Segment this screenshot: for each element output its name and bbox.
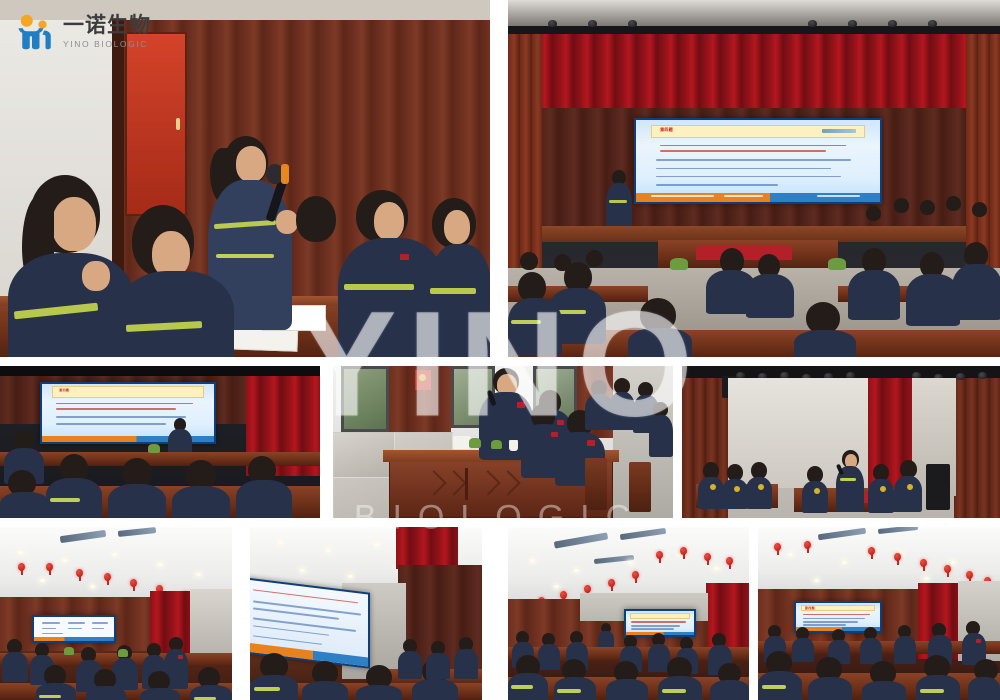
slide-footer [636,193,880,202]
photo-collage: 第四题 [0,0,1000,700]
collage-photo-1[interactable] [0,0,490,357]
collage-photo-4[interactable] [333,366,673,518]
photo-7-scene [250,527,482,700]
collage-photo-9[interactable]: 第四题 [758,527,1000,700]
person-seated-4 [428,198,490,357]
slide-title-text: 第四题 [805,606,815,610]
photo-1-scene [0,0,490,357]
person-seated-2 [118,205,238,357]
yino-biologic-logo-icon [14,14,56,50]
drinking-cup [509,440,518,451]
slide-title-text: 第四题 [660,127,673,133]
photo-5-scene [682,366,1000,518]
photo-8-scene [508,527,749,700]
collage-photo-6[interactable] [0,527,232,700]
photo-9-scene: 第四题 [758,527,1000,700]
photo-2-scene: 第四题 [508,0,1000,357]
collage-photo-3[interactable]: 第四题 [0,366,320,518]
photo-6-scene [0,527,232,700]
collage-photo-5[interactable] [682,366,1000,518]
presenter [604,170,634,230]
logo-name-en: YINO BIOLOGIC [63,39,151,49]
photo-4-scene [333,366,673,518]
company-logo: 一诺生物 YINO BIOLOGIC [14,14,151,50]
projection-screen: 第四题 [634,118,882,204]
slide-content: 第四题 [636,120,880,202]
logo-text-block: 一诺生物 YINO BIOLOGIC [63,15,151,49]
projection-screen [32,615,116,643]
photo-3-scene: 第四题 [0,366,320,518]
collage-photo-2[interactable]: 第四题 [508,0,1000,357]
collage-photo-8[interactable] [508,527,749,700]
slide-title-text: 第四题 [59,388,69,392]
collage-photo-7[interactable] [250,527,482,700]
slide-title-box: 第四题 [651,125,866,138]
logo-name-cn: 一诺生物 [63,15,151,36]
person-speaking [836,450,864,510]
